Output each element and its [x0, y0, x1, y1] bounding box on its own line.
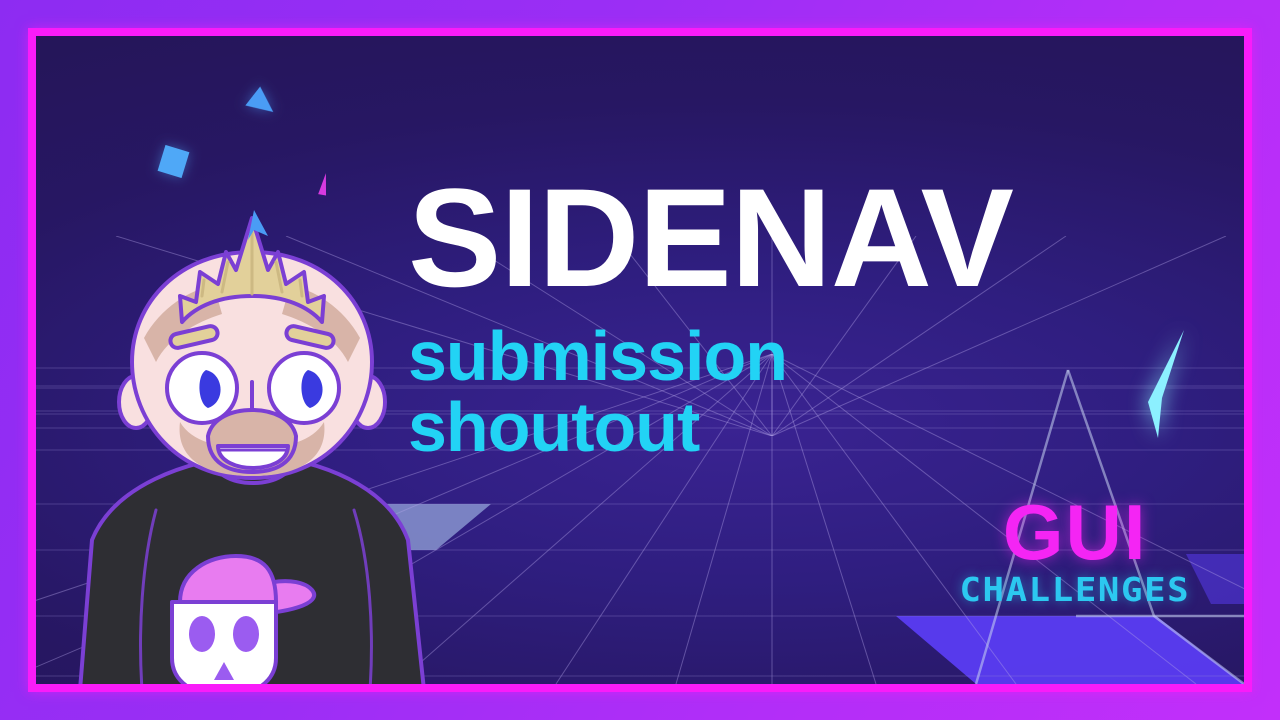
- thumbnail-stage: SIDENAV submission shoutout GUI CHALLENG…: [0, 0, 1280, 720]
- sliver-confetti-icon: [318, 172, 330, 195]
- presenter-avatar: [72, 210, 432, 684]
- subtitle-line-2: shoutout: [408, 392, 1013, 463]
- neon-frame: SIDENAV submission shoutout GUI CHALLENG…: [28, 28, 1252, 692]
- logo-primary-text: GUI: [968, 498, 1182, 567]
- gui-challenges-logo: GUI CHALLENGES: [968, 498, 1182, 606]
- headline-block: SIDENAV submission shoutout: [408, 174, 1013, 464]
- page-subtitle: submission shoutout: [408, 321, 1013, 464]
- triangle-confetti-icon: [245, 87, 280, 122]
- page-title: SIDENAV: [408, 174, 1013, 303]
- light-shard-icon: [1144, 324, 1194, 444]
- logo-secondary-text: CHALLENGES: [960, 573, 1191, 606]
- subtitle-line-1: submission: [408, 321, 1013, 392]
- square-confetti-icon: [158, 145, 190, 178]
- inner-panel: SIDENAV submission shoutout GUI CHALLENG…: [36, 36, 1244, 684]
